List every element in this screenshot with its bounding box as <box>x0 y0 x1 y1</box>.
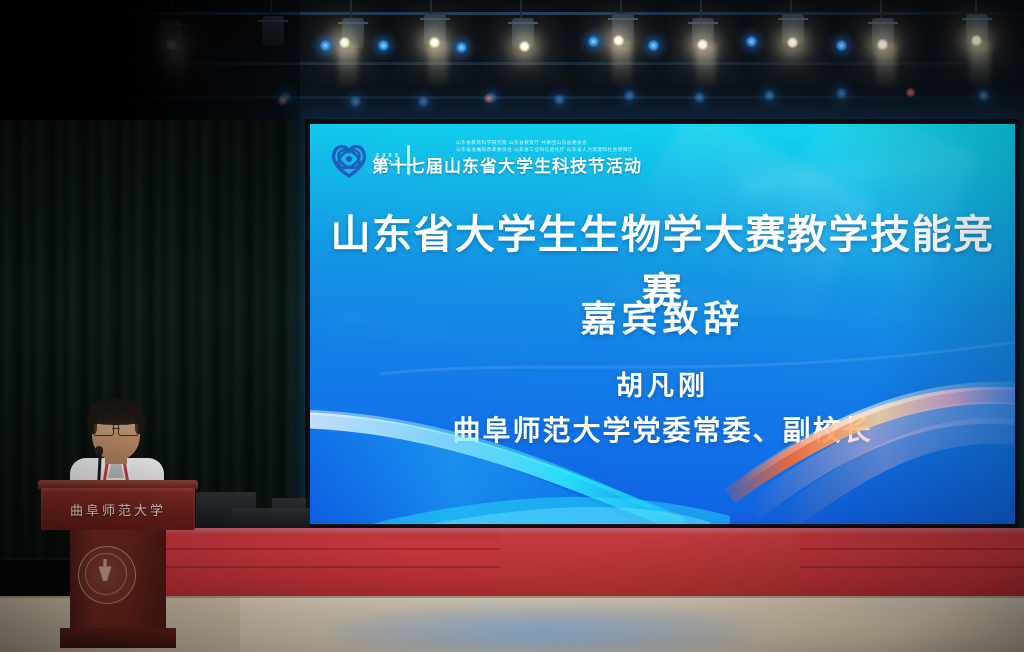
podium-front-panel: 曲阜师范大学 <box>41 488 195 530</box>
floor-blue-light-reflection <box>330 604 750 652</box>
spotlight <box>428 36 441 49</box>
stage-monitor-speaker <box>232 508 310 528</box>
qufu-normal-university-emblem-icon <box>78 546 136 604</box>
podium-base <box>60 628 176 648</box>
session-title: 嘉宾致辞 <box>310 290 1015 342</box>
podium-institution-text: 曲阜师范大学 <box>41 500 195 519</box>
spotlight <box>612 34 625 47</box>
spotlight <box>696 38 709 51</box>
stage-photo: 2 0 0 5 2 0 2 2 山东省教育科学研究院 山东省教育厅 共青团山东省… <box>0 0 1024 652</box>
science-festival-emblem-icon <box>330 142 368 178</box>
eyeglasses-icon <box>93 423 139 434</box>
floor-warm-light-reflection <box>720 600 1024 652</box>
lighting-truss <box>0 0 1024 120</box>
spotlight <box>338 36 351 49</box>
spotlight <box>970 34 983 47</box>
spotlight <box>876 38 889 51</box>
spotlight <box>786 36 799 49</box>
speaker-name: 胡凡刚 <box>310 364 1015 403</box>
spotlight <box>518 40 531 53</box>
podium: 曲阜师范大学 <box>38 480 198 652</box>
led-screen: 2 0 0 5 2 0 2 2 山东省教育科学研究院 山东省教育厅 共青团山东省… <box>310 124 1015 524</box>
organizers-line-1: 山东省教育科学研究院 山东省教育厅 共青团山东省委员会 <box>456 140 633 147</box>
event-series-title: 第十七届山东省大学生科技节活动 <box>372 152 642 177</box>
speaker-position: 曲阜师范大学党委常委、副校长 <box>310 409 1015 449</box>
